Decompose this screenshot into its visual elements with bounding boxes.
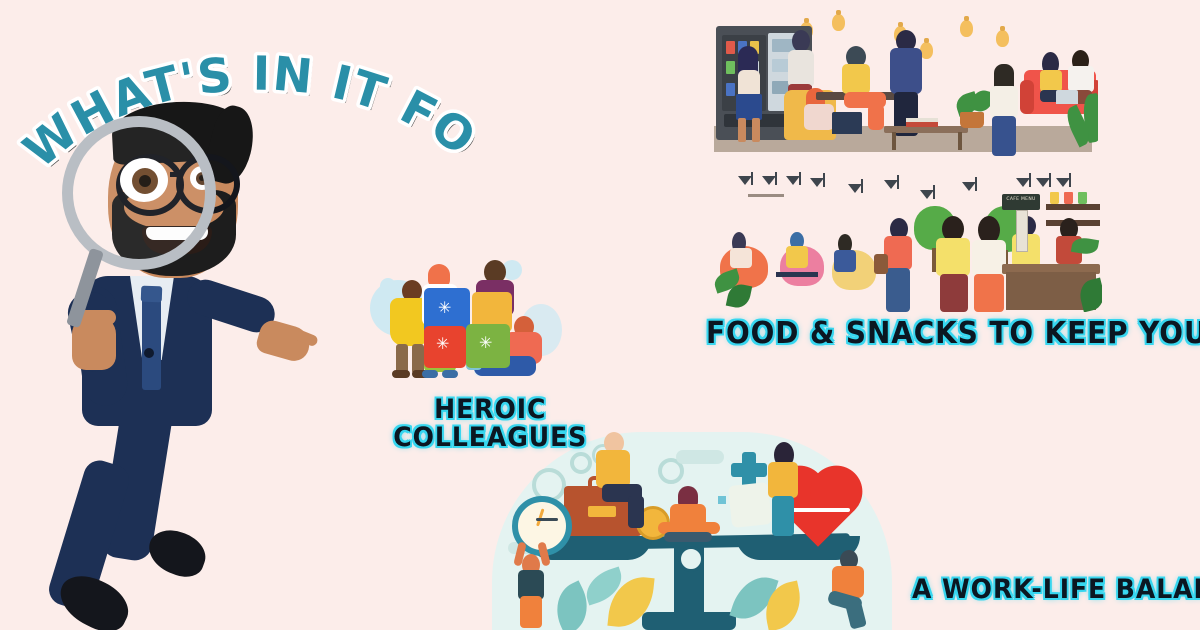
caption-heroic-line2: COLLEAGUES (393, 422, 587, 453)
magnifying-glass (62, 116, 216, 270)
caption-heroic-colleagues: HEROICCOLLEAGUES (393, 396, 587, 453)
teamwork-puzzle-illustration: ✳ ✳ ✳ (362, 252, 562, 392)
cafe-menu-board: CAFE MENU (1002, 194, 1040, 210)
shoulder-bag (874, 254, 888, 274)
briefcase-latch (588, 506, 616, 517)
businessman-magnifier-illustration (20, 80, 350, 630)
cafe-menu-text: CAFE MENU (1002, 197, 1040, 202)
plant-pot (960, 112, 984, 128)
office-lounge-illustration (708, 8, 1098, 166)
cafe-shelf (1046, 204, 1100, 210)
heartbeat-line (788, 508, 850, 512)
pillow (728, 482, 772, 528)
laptop (832, 112, 862, 134)
puzzle-piece-red: ✳ (424, 326, 466, 368)
office-cafe-illustration: CAFE MENU (706, 172, 1102, 312)
caption-heroic-line1: HEROIC (434, 394, 546, 425)
work-life-balance-illustration (492, 424, 892, 630)
poster-canvas: WHAT'S IN IT FOR YOU? WHAT'S IN IT FOR Y… (0, 0, 1200, 630)
puzzle-piece-green: ✳ (466, 324, 510, 368)
necktie (142, 294, 161, 390)
jacket-button (144, 348, 154, 358)
caption-work-life-balance: A WORK-LIFE BALANCE (912, 576, 1200, 604)
caption-food-snacks: FOOD & SNACKS TO KEEP YOU FUELLED (706, 318, 1200, 350)
low-table (776, 272, 818, 277)
